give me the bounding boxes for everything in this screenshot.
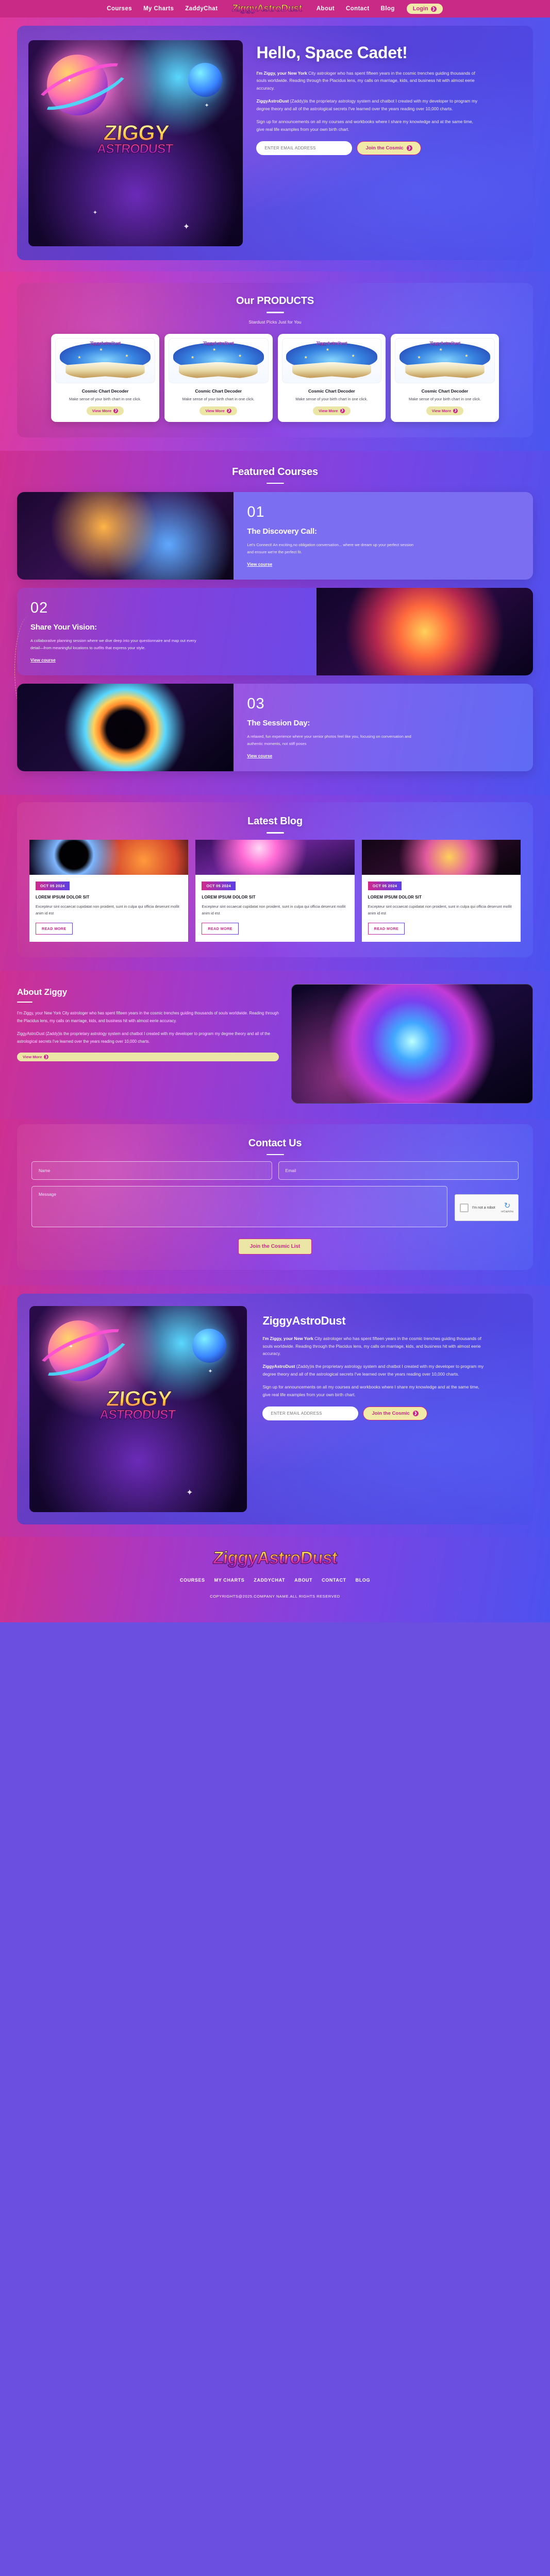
blog-title: Latest Blog <box>29 816 521 827</box>
hero-p1-bold: I'm Ziggy, your New York <box>256 71 307 76</box>
product-title: Cosmic Chart Decoder <box>308 388 355 394</box>
chevron-right-icon: ❯ <box>407 145 412 151</box>
footer-link-about[interactable]: ABOUT <box>294 1578 312 1583</box>
hero-p2-bold: ZiggyAstroDust <box>256 98 289 104</box>
chevron-right-icon: ❯ <box>453 409 458 413</box>
hero-paragraph-1: I'm Ziggy, your New York City astrologer… <box>256 70 478 92</box>
contact-message-textarea[interactable] <box>31 1186 447 1227</box>
course-view-link[interactable]: View course <box>30 657 56 663</box>
product-card[interactable]: ★ ★ ★ ZiggyAstroDust Cosmic Chart Decode… <box>51 334 159 422</box>
course-desc: Let's Connect! An exciting,no obligation… <box>247 541 417 556</box>
about-text-column: About Ziggy I'm Ziggy, your New York Cit… <box>17 984 279 1062</box>
star-icon: ★ <box>99 347 103 352</box>
footer-link-courses[interactable]: COURSES <box>180 1578 205 1583</box>
nav-link-contact[interactable]: Contact <box>346 6 370 12</box>
hero-logo-top: ZIGGY <box>103 121 170 145</box>
product-image: ★ ★ ★ ZiggyAstroDust <box>395 338 495 383</box>
hero-p2-rest: (Zaddy)is the proprietary astrology syst… <box>256 98 477 111</box>
hero-panel: ✦ ✦ ✦ ✦ ZIGGY ASTRODUST Hello, Space Cad… <box>17 26 533 260</box>
recaptcha-brand: ↻ reCaptcha <box>501 1202 513 1213</box>
product-image: ★ ★ ★ ZiggyAstroDust <box>169 338 269 383</box>
contact-panel: Contact Us I'm not a robot ↻ reCaptcha J… <box>17 1124 533 1270</box>
bottom-cta-p1-bold: I'm Ziggy, your New York <box>262 1336 313 1341</box>
star-icon: ★ <box>352 353 355 358</box>
hero-join-button[interactable]: Join the Cosmic ❯ <box>357 141 421 155</box>
course-title: Share Your Vision: <box>30 623 303 632</box>
about-paragraph-1: I'm Ziggy, your New York City astrologer… <box>17 1010 279 1025</box>
about-layout: About Ziggy I'm Ziggy, your New York Cit… <box>17 984 533 1104</box>
course-view-link[interactable]: View course <box>247 562 272 567</box>
course-row: 01 The Discovery Call: Let's Connect! An… <box>17 492 533 580</box>
about-view-more-label: View More <box>23 1055 42 1059</box>
course-row: 03 The Session Day: A relaxed, fun exper… <box>17 684 533 771</box>
star-icon: ★ <box>417 355 421 360</box>
product-logo: ZiggyAstroDust <box>56 341 155 346</box>
page-root: Courses My Charts ZaddyChat ZiggyAstroDu… <box>0 0 550 1622</box>
blog-date-badge: OCT 05 2024 <box>202 882 236 890</box>
blog-post-excerpt: Excepteur sint occaecat cupidatat non pr… <box>36 903 182 917</box>
product-image: ★ ★ ★ ZiggyAstroDust <box>55 338 155 383</box>
chevron-right-icon: ❯ <box>340 409 345 413</box>
title-rule <box>266 483 284 484</box>
star-icon: ★ <box>304 355 308 360</box>
blog-post-title: LOREM IPSUM DOLOR SIT <box>368 895 514 900</box>
star-icon: ★ <box>212 347 216 352</box>
about-artwork <box>291 984 533 1104</box>
hero-paragraph-3: Sign up for announcements on all my cour… <box>256 118 478 133</box>
product-logo: ZiggyAstroDust <box>169 341 268 346</box>
blog-panel: Latest Blog OCT 05 2024 LOREM IPSUM DOLO… <box>17 802 533 957</box>
blog-read-more-button[interactable]: READ MORE <box>202 923 239 935</box>
footer-copyright: COPYRIGHTS@2025.COMPANY NAME.ALL RIGHTS … <box>0 1594 550 1599</box>
open-book-icon <box>405 362 484 380</box>
course-body-3: 03 The Session Day: A relaxed, fun exper… <box>234 684 533 771</box>
star-icon: ✦ <box>208 1368 212 1375</box>
nav-link-my-charts[interactable]: My Charts <box>143 6 174 12</box>
product-title: Cosmic Chart Decoder <box>195 388 242 394</box>
star-icon: ★ <box>464 353 468 358</box>
hero-logo-bottom: ASTRODUST <box>28 143 243 156</box>
nav-link-about[interactable]: About <box>316 6 335 12</box>
course-body-2: 02 Share Your Vision: A collaborative pl… <box>17 588 316 675</box>
course-title: The Discovery Call: <box>247 527 520 536</box>
bottom-cta-join-button[interactable]: Join the Cosmic ❯ <box>363 1406 427 1420</box>
blog-image <box>195 840 354 878</box>
bottom-cta-join-label: Join the Cosmic <box>372 1411 409 1416</box>
blog-card[interactable]: OCT 05 2024 LOREM IPSUM DOLOR SIT Except… <box>195 840 354 942</box>
contact-title: Contact Us <box>31 1138 519 1149</box>
contact-email-input[interactable] <box>278 1161 519 1180</box>
recaptcha-icon: ↻ <box>501 1202 513 1210</box>
product-card[interactable]: ★ ★ ★ ZiggyAstroDust Cosmic Chart Decode… <box>391 334 499 422</box>
nav-link-zaddychat[interactable]: ZaddyChat <box>185 6 218 12</box>
blog-card-body: OCT 05 2024 LOREM IPSUM DOLOR SIT Except… <box>362 875 521 942</box>
star-icon: ✦ <box>204 102 209 109</box>
hero-cta-row: Join the Cosmic ❯ <box>256 141 518 155</box>
chevron-right-icon: ❯ <box>113 409 118 413</box>
hero-image-column: ✦ ✦ ✦ ✦ ZIGGY ASTRODUST <box>17 26 254 260</box>
hero-logo-art: ZIGGY ASTRODUST <box>28 123 243 156</box>
login-label: Login <box>413 6 428 12</box>
chevron-right-icon: ❯ <box>227 409 231 413</box>
blog-grid: OCT 05 2024 LOREM IPSUM DOLOR SIT Except… <box>29 840 521 942</box>
open-book-icon <box>292 362 371 380</box>
blog-section: Latest Blog OCT 05 2024 LOREM IPSUM DOLO… <box>0 795 550 970</box>
product-view-more-button[interactable]: View More ❯ <box>199 406 237 415</box>
product-view-more-label: View More <box>205 409 224 413</box>
hero-paragraph-2: ZiggyAstroDust (Zaddy)is the proprietary… <box>256 97 478 112</box>
bottom-cta-email-input[interactable] <box>262 1406 358 1420</box>
title-rule <box>266 832 284 834</box>
products-title: Our PRODUCTS <box>29 295 521 307</box>
product-view-more-button[interactable]: View More ❯ <box>313 406 350 415</box>
contact-submit-button[interactable]: Join the Cosmic List <box>238 1239 312 1255</box>
nav-link-courses[interactable]: Courses <box>107 6 132 12</box>
products-section: Our PRODUCTS Stardust Picks Just for You… <box>0 272 550 451</box>
bottom-cta-p2-bold: ZiggyAstroDust <box>262 1364 295 1369</box>
product-view-more-label: View More <box>92 409 111 413</box>
hero-section: ✦ ✦ ✦ ✦ ZIGGY ASTRODUST Hello, Space Cad… <box>0 18 550 272</box>
about-view-more-button[interactable]: View More ❯ <box>17 1053 279 1061</box>
product-title: Cosmic Chart Decoder <box>82 388 129 394</box>
course-image-1 <box>17 492 234 580</box>
product-view-more-button[interactable]: View More ❯ <box>426 406 463 415</box>
product-desc: Make sense of your birth chart in one cl… <box>182 396 255 402</box>
footer-link-blog[interactable]: BLOG <box>356 1578 370 1583</box>
bottom-cta-heading: ZiggyAstroDust <box>262 1314 518 1328</box>
star-icon: ★ <box>238 353 242 358</box>
star-icon: ★ <box>326 347 329 352</box>
courses-section: Featured Courses 01 The Discovery Call: … <box>0 451 550 795</box>
open-book-icon <box>65 362 144 380</box>
star-icon: ★ <box>125 353 128 358</box>
bottom-cta-logo-bottom: ASTRODUST <box>29 1409 247 1421</box>
bottom-cta-paragraph-1: I'm Ziggy, your New York City astrologer… <box>262 1335 484 1357</box>
open-book-icon <box>179 362 258 380</box>
product-title: Cosmic Chart Decoder <box>422 388 469 394</box>
bottom-cta-logo-art: ZIGGY ASTRODUST <box>29 1388 247 1421</box>
course-title: The Session Day: <box>247 719 520 728</box>
title-rule <box>266 312 284 313</box>
hero-text-column: Hello, Space Cadet! I'm Ziggy, your New … <box>254 26 533 260</box>
contact-form-row-1 <box>31 1161 519 1180</box>
course-number: 02 <box>30 601 303 616</box>
title-rule <box>266 1154 284 1156</box>
site-footer: ZiggyAstroDust COURSES MY CHARTS ZADDYCH… <box>0 1537 550 1622</box>
header-brand-logo[interactable]: ZiggyAstroDust <box>229 3 306 14</box>
product-image: ★ ★ ★ ZiggyAstroDust <box>282 338 382 383</box>
hero-join-label: Join the Cosmic <box>365 145 403 151</box>
star-icon: ★ <box>439 347 442 352</box>
blog-post-excerpt: Excepteur sint occaecat cupidatat non pr… <box>368 903 514 917</box>
bottom-cta-paragraph-2: ZiggyAstroDust (Zaddy)is the proprietary… <box>262 1363 484 1378</box>
hero-heading: Hello, Space Cadet! <box>256 43 518 62</box>
blog-date-badge: OCT 05 2024 <box>368 882 402 890</box>
product-view-more-label: View More <box>432 409 451 413</box>
blog-post-title: LOREM IPSUM DOLOR SIT <box>36 895 182 900</box>
blog-post-title: LOREM IPSUM DOLOR SIT <box>202 895 348 900</box>
recaptcha-checkbox[interactable] <box>460 1204 469 1212</box>
course-view-link[interactable]: View course <box>247 753 272 758</box>
course-image-3 <box>17 684 234 771</box>
course-number: 03 <box>247 697 520 711</box>
product-desc: Make sense of your birth chart in one cl… <box>69 396 141 402</box>
star-icon: ★ <box>77 355 81 360</box>
nav-link-blog[interactable]: Blog <box>381 6 395 12</box>
recaptcha-widget[interactable]: I'm not a robot ↻ reCaptcha <box>455 1194 519 1221</box>
about-title: About Ziggy <box>17 987 279 997</box>
products-grid: ★ ★ ★ ZiggyAstroDust Cosmic Chart Decode… <box>29 334 521 422</box>
star-icon: ★ <box>191 355 194 360</box>
title-rule <box>17 1002 32 1003</box>
blog-read-more-button[interactable]: READ MORE <box>368 923 405 935</box>
products-panel: Our PRODUCTS Stardust Picks Just for You… <box>17 283 533 437</box>
courses-title: Featured Courses <box>17 466 533 478</box>
bottom-cta-section: ✦ ✦ ✦ ZIGGY ASTRODUST ZiggyAstroDust I'm… <box>0 1285 550 1537</box>
product-card[interactable]: ★ ★ ★ ZiggyAstroDust Cosmic Chart Decode… <box>164 334 273 422</box>
hero-email-input[interactable] <box>256 141 352 155</box>
bottom-cta-panel: ✦ ✦ ✦ ZIGGY ASTRODUST ZiggyAstroDust I'm… <box>17 1294 533 1524</box>
blog-card-body: OCT 05 2024 LOREM IPSUM DOLOR SIT Except… <box>29 875 188 942</box>
blog-card[interactable]: OCT 05 2024 LOREM IPSUM DOLOR SIT Except… <box>362 840 521 942</box>
star-icon: ✦ <box>186 1487 193 1498</box>
bottom-cta-row: Join the Cosmic ❯ <box>262 1406 518 1420</box>
blog-read-more-button[interactable]: READ MORE <box>36 923 73 935</box>
bottom-cta-paragraph-3: Sign up for announcements on all my cour… <box>262 1383 484 1398</box>
product-view-more-label: View More <box>319 409 338 413</box>
star-icon: ✦ <box>93 209 97 216</box>
product-logo: ZiggyAstroDust <box>282 341 381 346</box>
chevron-right-icon: ❯ <box>431 6 437 12</box>
footer-link-my-charts[interactable]: MY CHARTS <box>214 1578 245 1583</box>
product-view-more-button[interactable]: View More ❯ <box>87 406 124 415</box>
product-desc: Make sense of your birth chart in one cl… <box>409 396 481 402</box>
hero-artwork: ✦ ✦ ✦ ✦ ZIGGY ASTRODUST <box>28 40 243 246</box>
blog-date-badge: OCT 05 2024 <box>36 882 70 890</box>
course-desc: A collaborative planning session where w… <box>30 637 201 652</box>
login-button[interactable]: Login ❯ <box>406 3 443 14</box>
blog-card[interactable]: OCT 05 2024 LOREM IPSUM DOLOR SIT Except… <box>29 840 188 942</box>
course-image-2 <box>316 588 533 675</box>
about-paragraph-2: ZiggyAstroDust (Zaddy)is the proprietary… <box>17 1030 279 1046</box>
product-card[interactable]: ★ ★ ★ ZiggyAstroDust Cosmic Chart Decode… <box>278 334 386 422</box>
footer-logo: ZiggyAstroDust <box>212 1548 338 1568</box>
contact-name-input[interactable] <box>31 1161 272 1180</box>
products-subtitle: Stardust Picks Just for You <box>29 319 521 325</box>
course-number: 01 <box>247 505 520 520</box>
site-header: Courses My Charts ZaddyChat ZiggyAstroDu… <box>0 0 550 18</box>
star-icon: ✦ <box>67 77 72 84</box>
bottom-cta-text-column: ZiggyAstroDust I'm Ziggy, your New York … <box>259 1294 533 1524</box>
about-section: About Ziggy I'm Ziggy, your New York Cit… <box>0 971 550 1119</box>
recaptcha-brand-label: reCaptcha <box>501 1210 513 1213</box>
blog-card-body: OCT 05 2024 LOREM IPSUM DOLOR SIT Except… <box>195 875 354 942</box>
chevron-right-icon: ❯ <box>413 1411 419 1416</box>
bottom-cta-artwork: ✦ ✦ ✦ ZIGGY ASTRODUST <box>29 1306 247 1512</box>
bottom-cta-p2-rest: (Zaddy)is the proprietary astrology syst… <box>262 1364 484 1376</box>
contact-section: Contact Us I'm not a robot ↻ reCaptcha J… <box>0 1119 550 1286</box>
chevron-right-icon: ❯ <box>44 1055 48 1059</box>
star-icon: ✦ <box>69 1343 73 1350</box>
course-body-1: 01 The Discovery Call: Let's Connect! An… <box>234 492 533 580</box>
course-row: 02 Share Your Vision: A collaborative pl… <box>17 588 533 675</box>
planet-icon-small <box>192 1329 226 1363</box>
about-image-column <box>291 984 533 1104</box>
course-desc: A relaxed, fun experience where your sen… <box>247 733 417 748</box>
star-icon: ✦ <box>183 222 190 232</box>
planet-icon-small <box>188 63 222 97</box>
blog-image <box>362 840 521 878</box>
recaptcha-label: I'm not a robot <box>472 1206 497 1210</box>
footer-link-contact[interactable]: CONTACT <box>322 1578 346 1583</box>
footer-nav: COURSES MY CHARTS ZADDYCHAT ABOUT CONTAC… <box>0 1578 550 1583</box>
blog-post-excerpt: Excepteur sint occaecat cupidatat non pr… <box>202 903 348 917</box>
footer-link-zaddychat[interactable]: ZADDYCHAT <box>254 1578 285 1583</box>
blog-image <box>29 840 188 878</box>
contact-form-row-2: I'm not a robot ↻ reCaptcha <box>31 1186 519 1227</box>
product-logo: ZiggyAstroDust <box>395 341 494 346</box>
bottom-cta-image-column: ✦ ✦ ✦ ZIGGY ASTRODUST <box>17 1294 259 1524</box>
product-desc: Make sense of your birth chart in one cl… <box>295 396 368 402</box>
